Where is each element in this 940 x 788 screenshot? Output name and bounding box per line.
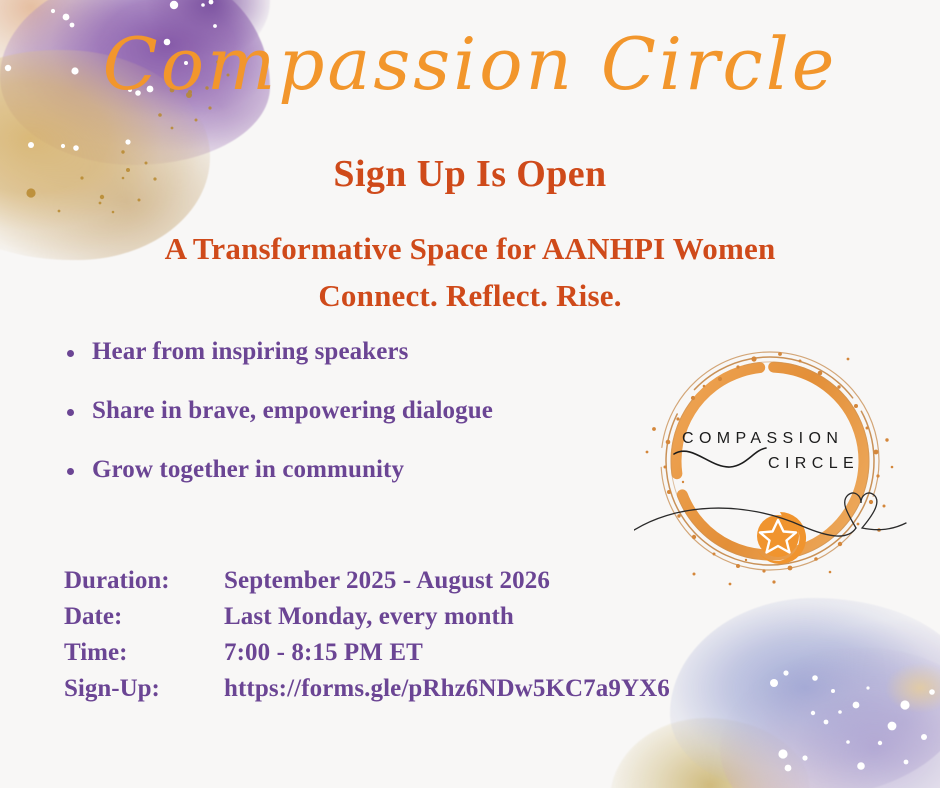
list-item-label: Share in brave, empowering dialogue — [92, 397, 493, 424]
detail-value-time: 7:00 - 8:15 PM ET — [224, 639, 824, 667]
detail-label-time: Time: — [64, 639, 224, 667]
detail-row-time: Time: 7:00 - 8:15 PM ET — [64, 639, 824, 667]
compassion-circle-logo: COMPASSION CIRCLE — [634, 334, 912, 594]
list-item-label: Grow together in community — [92, 456, 404, 483]
list-item-label: Hear from inspiring speakers — [92, 338, 408, 365]
subtitle-sign-up: Sign Up Is Open — [0, 152, 940, 196]
logo-word-compassion: COMPASSION — [682, 430, 843, 448]
logo-wave-flourish — [674, 448, 766, 467]
bullet-dot-icon — [67, 468, 74, 475]
list-item: Hear from inspiring speakers — [60, 338, 620, 366]
detail-label-signup: Sign-Up: — [64, 675, 224, 703]
list-item: Share in brave, empowering dialogue — [60, 397, 620, 425]
detail-label-date: Date: — [64, 603, 224, 631]
flyer-canvas: Compassion Circle Sign Up Is Open A Tran… — [0, 0, 940, 788]
bullet-dot-icon — [67, 409, 74, 416]
tagline-line-2: Connect. Reflect. Rise. — [0, 272, 940, 319]
tagline-line-1: A Transformative Space for AANHPI Women — [0, 225, 940, 272]
detail-value-date: Last Monday, every month — [224, 603, 824, 631]
detail-row-date: Date: Last Monday, every month — [64, 603, 824, 631]
benefits-list: Hear from inspiring speakers Share in br… — [60, 338, 620, 515]
logo-word-circle: CIRCLE — [768, 455, 859, 473]
bullet-dot-icon — [67, 350, 74, 357]
signup-url-link[interactable]: https://forms.gle/pRhz6NDw5KC7a9YX6 — [224, 675, 824, 703]
detail-label-duration: Duration: — [64, 567, 224, 595]
watercolor-gold-blob-br — [610, 718, 810, 788]
page-title: Compassion Circle — [0, 28, 940, 100]
detail-row-signup: Sign-Up: https://forms.gle/pRhz6NDw5KC7a… — [64, 675, 824, 703]
watercolor-cream-dot — [885, 663, 940, 713]
subtitle-tagline: A Transformative Space for AANHPI Women … — [0, 225, 940, 319]
list-item: Grow together in community — [60, 456, 620, 484]
